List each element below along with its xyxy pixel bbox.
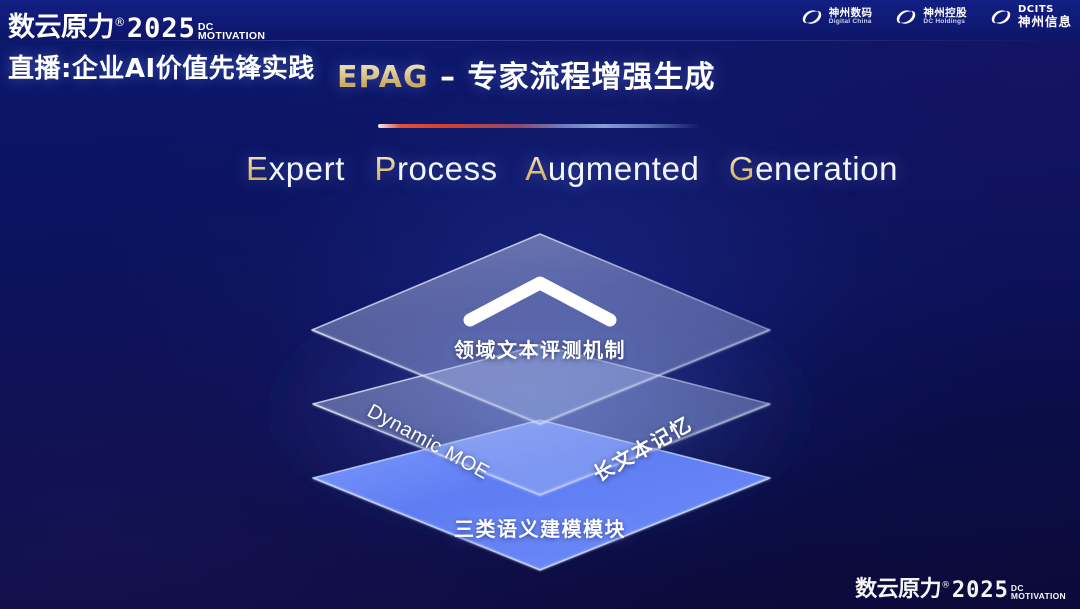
logo-digital-china: 神州数码 Digital China	[800, 5, 873, 29]
logo-name-cn: 神州信息	[1018, 16, 1072, 29]
subtitle-cap: E	[246, 150, 269, 187]
motivation-text: MOTIVATION	[198, 32, 265, 41]
gradient-divider	[378, 124, 700, 128]
page-subtitle: Expert Process Augmented Generation	[246, 150, 898, 188]
subtitle-cap: P	[374, 150, 397, 187]
footer-brand-cn: 数云原力®	[855, 571, 950, 603]
logo-name-en: DC Holdings	[923, 19, 967, 26]
event-brand-dc-motivation: DC MOTIVATION	[198, 23, 265, 41]
space	[355, 150, 365, 187]
subtitle-word-augmented: Augmented	[525, 150, 699, 187]
footer-watermark: 数云原力® 2025 DC MOTIVATION	[855, 571, 1066, 603]
live-session-label: 直播:企业AI价值先锋实践	[8, 48, 315, 85]
footer-brand-lockup: 数云原力® 2025 DC MOTIVATION	[855, 571, 1066, 603]
swirl-icon	[894, 5, 918, 29]
swirl-icon	[989, 5, 1013, 29]
subtitle-rest: rocess	[397, 150, 498, 187]
motivation-text: MOTIVATION	[1011, 593, 1066, 601]
logo-wordmark: 神州数码 Digital China	[829, 8, 873, 26]
top-banner: 数云原力® 2025 DC MOTIVATION 神州数码 Digital Ch…	[0, 0, 1080, 41]
subtitle-rest: xpert	[269, 150, 345, 187]
logo-wordmark: DCITS 神州信息	[1018, 5, 1072, 28]
subtitle-word-expert: Expert	[246, 150, 345, 187]
event-brand-year: 2025	[127, 13, 196, 41]
logo-name-en: Digital China	[829, 19, 873, 26]
subtitle-word-generation: Generation	[729, 150, 898, 187]
event-brand-lockup: 数云原力® 2025 DC MOTIVATION	[8, 5, 265, 41]
layer-top-label: 领域文本评测机制	[0, 334, 1080, 363]
subtitle-rest: ugmented	[548, 150, 700, 187]
footer-brand-year: 2025	[952, 578, 1009, 603]
layer-bottom-label: 三类语义建模模块	[0, 513, 1080, 542]
space	[508, 150, 518, 187]
logo-wordmark: 神州控股 DC Holdings	[923, 8, 967, 26]
title-acronym: EPAG	[337, 60, 429, 95]
title-cn: 专家流程增强生成	[467, 60, 715, 95]
page-title: EPAG – 专家流程增强生成	[337, 52, 715, 96]
registered-mark: ®	[114, 15, 125, 29]
event-brand-cn: 数云原力®	[8, 5, 125, 41]
footer-brand-dc-motivation: DC MOTIVATION	[1011, 585, 1066, 603]
subtitle-cap: G	[729, 150, 755, 187]
subtitle-rest: eneration	[755, 150, 898, 187]
space	[709, 150, 719, 187]
title-separator: –	[429, 60, 468, 95]
registered-mark: ®	[941, 580, 950, 591]
corporate-logo-row: 神州数码 Digital China 神州控股 DC Holdings	[800, 5, 1072, 29]
slide-canvas: 数云原力® 2025 DC MOTIVATION 神州数码 Digital Ch…	[0, 0, 1080, 609]
subtitle-cap: A	[525, 150, 548, 187]
subtitle-word-process: Process	[374, 150, 497, 187]
swirl-icon	[800, 5, 824, 29]
logo-dc-holdings: 神州控股 DC Holdings	[894, 5, 967, 29]
logo-dcits: DCITS 神州信息	[989, 5, 1072, 29]
